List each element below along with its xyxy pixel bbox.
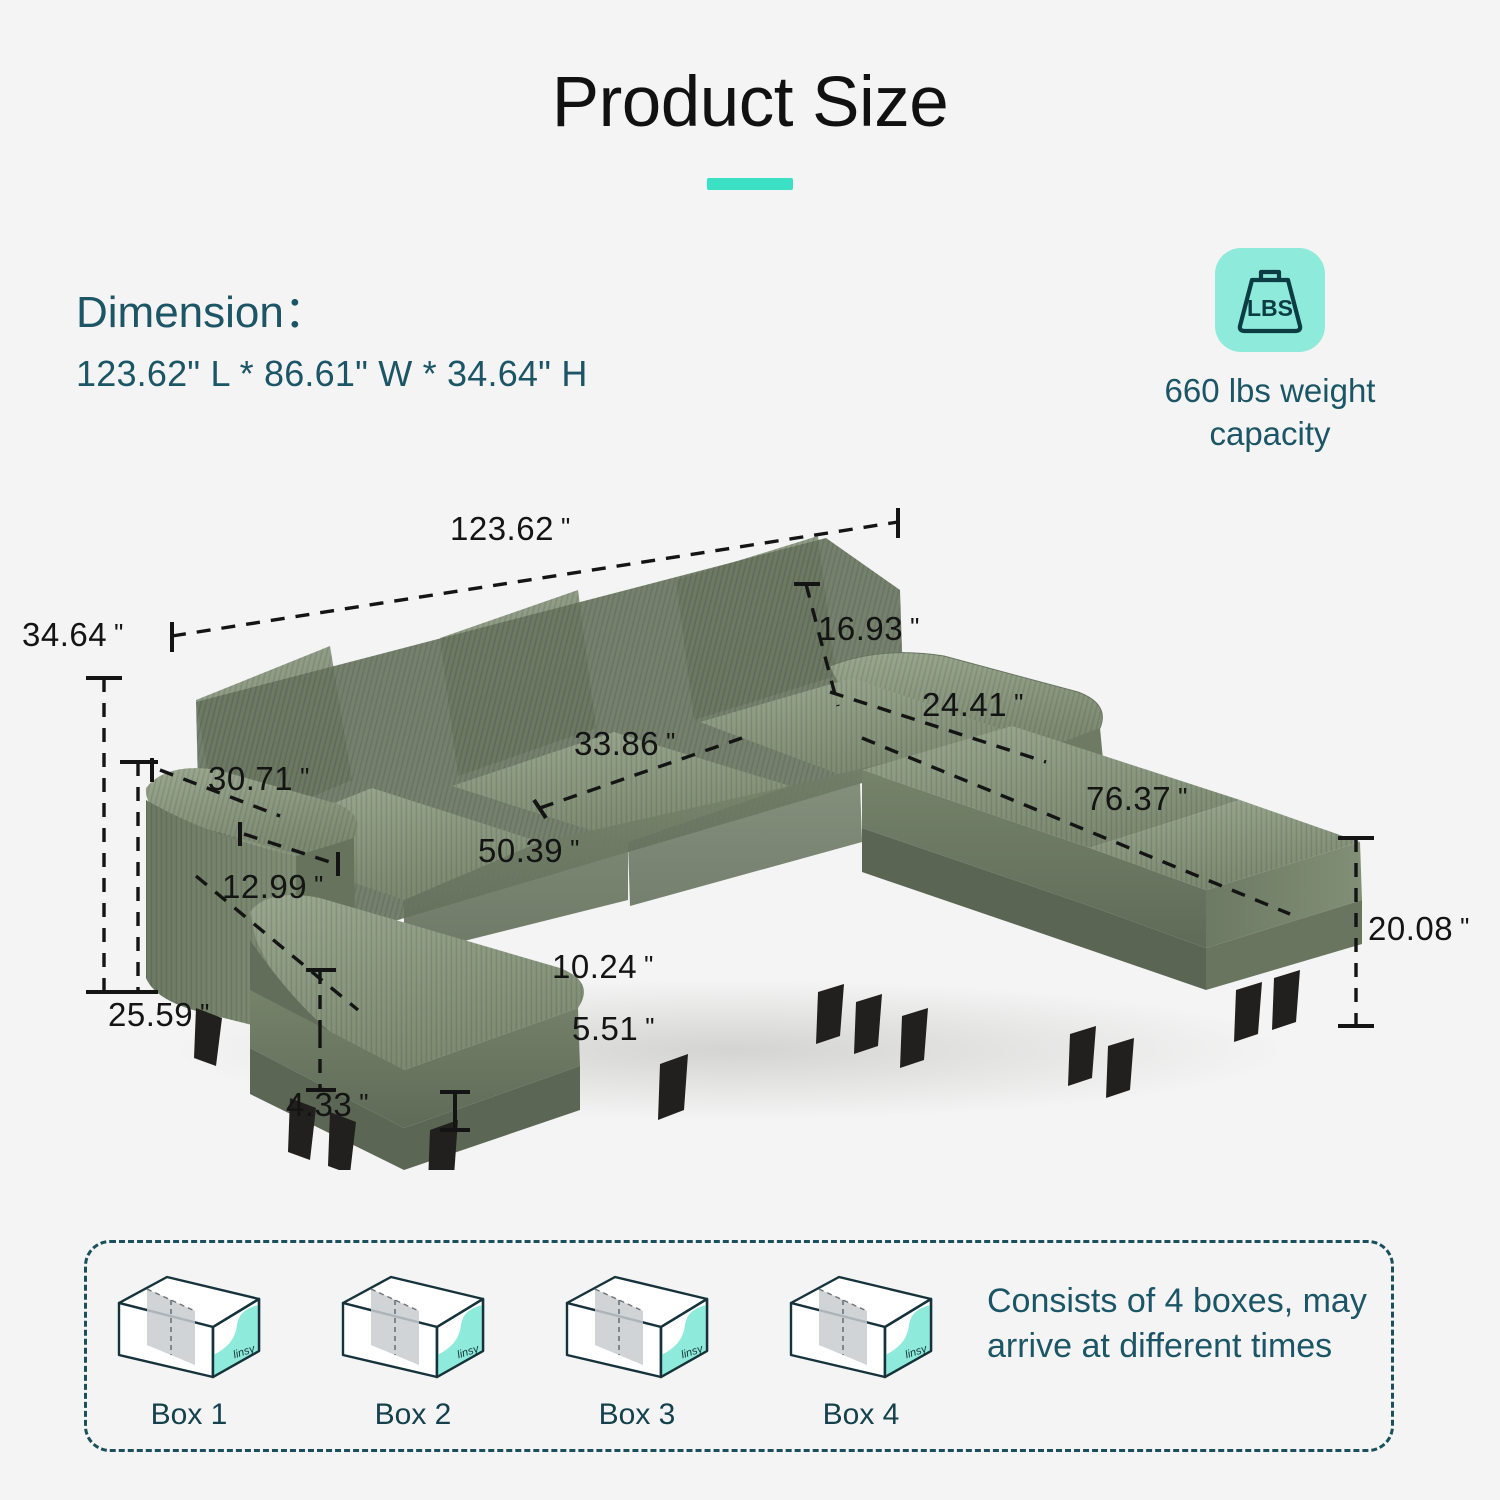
- weight-caption-line2: capacity: [1090, 413, 1450, 456]
- box-label: Box 3: [557, 1398, 717, 1432]
- list-item: linsy Box 2: [333, 1259, 493, 1432]
- weight-capacity-caption: 660 lbs weight capacity: [1090, 370, 1450, 456]
- dim-label-overall-height: 34.64": [22, 616, 124, 654]
- list-item: linsy Box 3: [557, 1259, 717, 1432]
- list-item: linsy Box 4: [781, 1259, 941, 1432]
- shipping-box-icon: linsy: [557, 1259, 717, 1387]
- dim-label-leg-height: 4.33": [286, 1086, 369, 1124]
- box-label: Box 4: [781, 1398, 941, 1432]
- dimension-heading: Dimension：: [76, 288, 588, 339]
- dim-label-base-height: 5.51": [572, 1010, 655, 1048]
- box-label: Box 1: [109, 1398, 269, 1432]
- title-accent-underline: [707, 178, 793, 190]
- dim-label-chaise-depth: 50.39": [478, 832, 580, 870]
- weight-caption-line1: 660 lbs weight: [1090, 370, 1450, 413]
- lbs-icon-text: LBS: [1247, 295, 1293, 321]
- shipping-box-icon: linsy: [109, 1259, 269, 1387]
- weight-capacity-block: LBS 660 lbs weight capacity: [1090, 248, 1450, 456]
- dim-label-overall-length: 123.62": [450, 510, 571, 548]
- dimension-block: Dimension： 123.62" L * 86.61" W * 34.64"…: [76, 288, 588, 395]
- product-diagram: 123.62" 34.64" 30.71" 12.99" 33.86" 16.9…: [0, 470, 1500, 1170]
- packaging-panel: linsy Box 1 linsy Box 2: [84, 1240, 1394, 1452]
- box-list: linsy Box 1 linsy Box 2: [109, 1259, 941, 1432]
- dim-label-seat-cushion-height: 10.24": [552, 948, 654, 986]
- dimension-value: 123.62" L * 86.61" W * 34.64" H: [76, 353, 588, 395]
- dim-label-ottoman-height: 20.08": [1368, 910, 1470, 948]
- dim-label-seat-height: 25.59": [108, 996, 210, 1034]
- dim-label-armrest-width: 12.99": [222, 868, 324, 906]
- sofa-illustration: [0, 470, 1500, 1170]
- lbs-weight-icon: LBS: [1215, 248, 1325, 352]
- packaging-note: Consists of 4 boxes, may arrive at diffe…: [987, 1279, 1407, 1369]
- dim-label-seat-back-height: 30.71": [208, 760, 310, 798]
- dim-label-seat-depth: 33.86": [574, 725, 676, 763]
- dim-label-chaise-length: 76.37": [1086, 780, 1188, 818]
- page-title: Product Size: [0, 62, 1500, 143]
- box-label: Box 2: [333, 1398, 493, 1432]
- dim-label-armrest-depth: 24.41": [922, 686, 1024, 724]
- list-item: linsy Box 1: [109, 1259, 269, 1432]
- shipping-box-icon: linsy: [333, 1259, 493, 1387]
- shipping-box-icon: linsy: [781, 1259, 941, 1387]
- dim-label-backrest-height: 16.93": [818, 610, 920, 648]
